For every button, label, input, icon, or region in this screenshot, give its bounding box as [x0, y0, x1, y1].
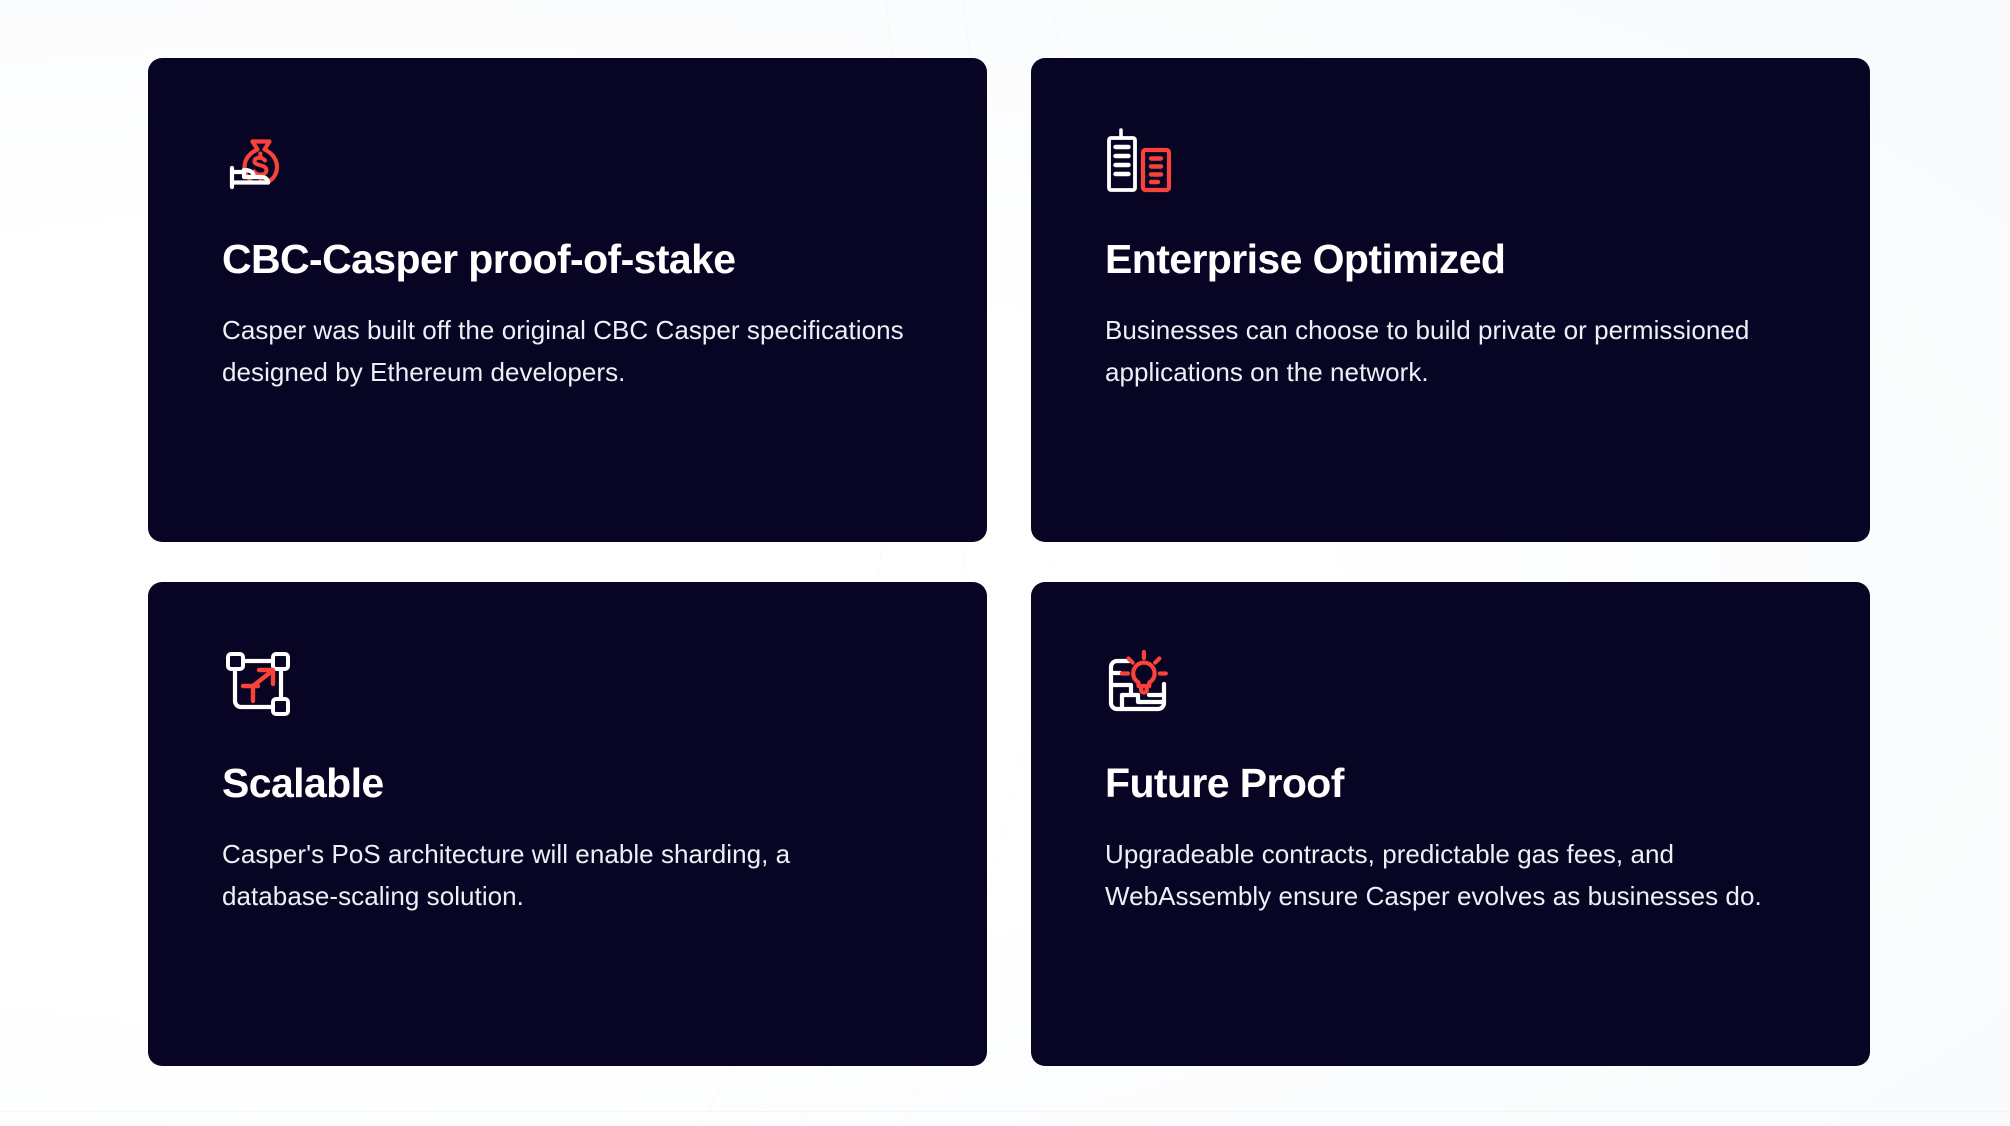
blueprint-lightbulb-icon: [1105, 648, 1177, 720]
office-buildings-icon: [1105, 124, 1177, 196]
feature-card-future-proof[interactable]: Future Proof Upgradeable contracts, pred…: [1031, 582, 1870, 1066]
feature-card-title: Future Proof: [1105, 760, 1796, 807]
money-bag-in-hand-icon: [222, 124, 294, 196]
bottom-divider: [0, 1111, 2010, 1112]
feature-card-description: Casper's PoS architecture will enable sh…: [222, 833, 912, 917]
feature-card-description: Businesses can choose to build private o…: [1105, 309, 1795, 393]
feature-card-enterprise-optimized[interactable]: Enterprise Optimized Businesses can choo…: [1031, 58, 1870, 542]
feature-card-cbc-casper[interactable]: CBC-Casper proof-of-stake Casper was bui…: [148, 58, 987, 542]
feature-card-description: Casper was built off the original CBC Ca…: [222, 309, 912, 393]
feature-cards-page: CBC-Casper proof-of-stake Casper was bui…: [0, 0, 2010, 1126]
scale-transform-arrow-icon: [222, 648, 294, 720]
feature-card-grid: CBC-Casper proof-of-stake Casper was bui…: [148, 58, 1870, 1066]
feature-card-title: Scalable: [222, 760, 913, 807]
feature-card-scalable[interactable]: Scalable Casper's PoS architecture will …: [148, 582, 987, 1066]
feature-card-title: Enterprise Optimized: [1105, 236, 1796, 283]
feature-card-title: CBC-Casper proof-of-stake: [222, 236, 913, 283]
feature-card-description: Upgradeable contracts, predictable gas f…: [1105, 833, 1795, 917]
